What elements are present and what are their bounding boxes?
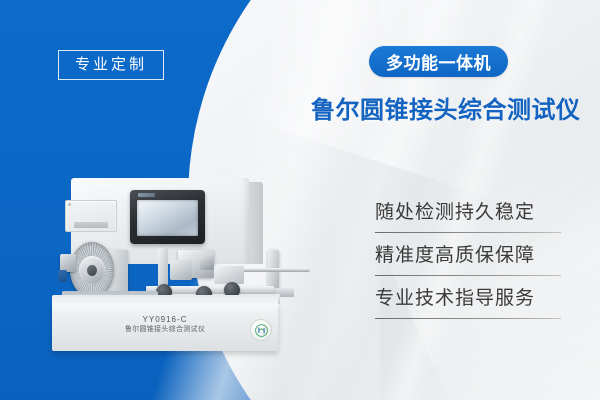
hmi-brand-logo	[138, 193, 155, 197]
feature-divider-3	[375, 318, 561, 319]
feature-text-2: 精准度高质保保障	[375, 239, 575, 273]
custom-service-badge: 专业定制	[58, 50, 164, 80]
hmi-touchscreen	[130, 190, 205, 244]
machine-access-panel	[65, 200, 117, 232]
rotary-center-shaft	[87, 265, 97, 276]
machine-panel-screw	[68, 203, 71, 206]
feature-text-1: 随处检测持久稳定	[375, 196, 575, 230]
machine-base-plinth: YY0916-C 鲁尔圆锥接头综合测试仪	[52, 303, 278, 351]
page-title: 鲁尔圆锥接头综合测试仪	[311, 90, 581, 125]
product-photo: YY0916-C 鲁尔圆锥接头综合测试仪	[44, 178, 312, 384]
feature-item-2: 精准度高质保保障	[375, 239, 575, 276]
feature-item-1: 随处检测持久稳定	[375, 196, 575, 233]
fixture-clamp-jaw	[200, 256, 214, 270]
hmi-screen-display	[137, 200, 198, 236]
product-model-number: YY0916-C	[52, 315, 278, 325]
rotary-blue-knob	[58, 270, 67, 282]
product-banner: 专业定制 多功能一体机 鲁尔圆锥接头综合测试仪 随处检测持久稳定 精准度高质保保…	[0, 0, 600, 400]
fixture-secondary-head	[170, 260, 192, 280]
brand-circle-logo	[250, 319, 272, 341]
feature-divider-1	[375, 232, 561, 233]
feature-list: 随处检测持久稳定 精准度高质保保障 专业技术指导服务	[375, 196, 575, 325]
feature-text-3: 专业技术指导服务	[375, 282, 575, 316]
multifunction-pill-badge: 多功能一体机	[369, 46, 508, 77]
feature-divider-2	[375, 275, 561, 276]
machine-nameplate: YY0916-C 鲁尔圆锥接头综合测试仪	[52, 315, 278, 335]
product-name-label: 鲁尔圆锥接头综合测试仪	[52, 325, 278, 335]
feature-item-3: 专业技术指导服务	[375, 282, 575, 319]
